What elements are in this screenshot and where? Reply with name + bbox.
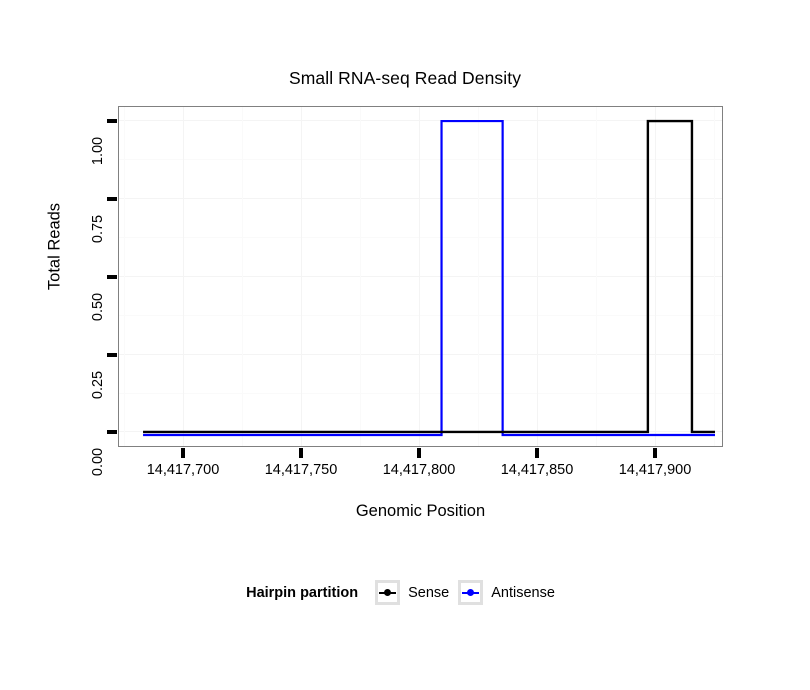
- x-axis-title: Genomic Position: [118, 502, 723, 521]
- legend-label-sense: Sense: [408, 585, 449, 601]
- legend-entry-antisense[interactable]: Antisense: [458, 580, 555, 605]
- x-tick-mark: [417, 448, 421, 458]
- y-tick-label: 0.00: [90, 432, 106, 492]
- x-tick-mark: [535, 448, 539, 458]
- series-line-antisense: [143, 121, 715, 435]
- y-tick-mark: [107, 275, 117, 279]
- y-tick-mark: [107, 430, 117, 434]
- legend-key-sense: [375, 580, 400, 605]
- chart-title: Small RNA-seq Read Density: [0, 68, 810, 89]
- chart-container: Small RNA-seq Read Density Total Reads 1…: [0, 0, 810, 690]
- legend: Hairpin partition Sense Antisense: [0, 580, 810, 605]
- legend-label-antisense: Antisense: [491, 585, 555, 601]
- legend-key-antisense: [458, 580, 483, 605]
- series-line-sense: [143, 121, 715, 432]
- y-tick-label: 0.25: [90, 355, 106, 415]
- x-tick-mark: [299, 448, 303, 458]
- y-tick-mark: [107, 197, 117, 201]
- legend-key-point: [384, 589, 391, 596]
- legend-key-point: [467, 589, 474, 596]
- y-axis-title: Total Reads: [46, 147, 65, 347]
- y-tick-mark: [107, 119, 117, 123]
- plot-area: [119, 107, 722, 446]
- y-tick-mark: [107, 353, 117, 357]
- x-tick-label: 14,417,900: [585, 462, 725, 478]
- y-tick-label: 0.75: [90, 199, 106, 259]
- x-tick-mark: [653, 448, 657, 458]
- y-tick-label: 0.50: [90, 277, 106, 337]
- series-layer: [119, 107, 722, 446]
- plot-panel: [118, 106, 723, 447]
- y-tick-label: 1.00: [90, 121, 106, 181]
- x-tick-mark: [181, 448, 185, 458]
- legend-title: Hairpin partition: [246, 585, 358, 601]
- legend-entry-sense[interactable]: Sense: [375, 580, 449, 605]
